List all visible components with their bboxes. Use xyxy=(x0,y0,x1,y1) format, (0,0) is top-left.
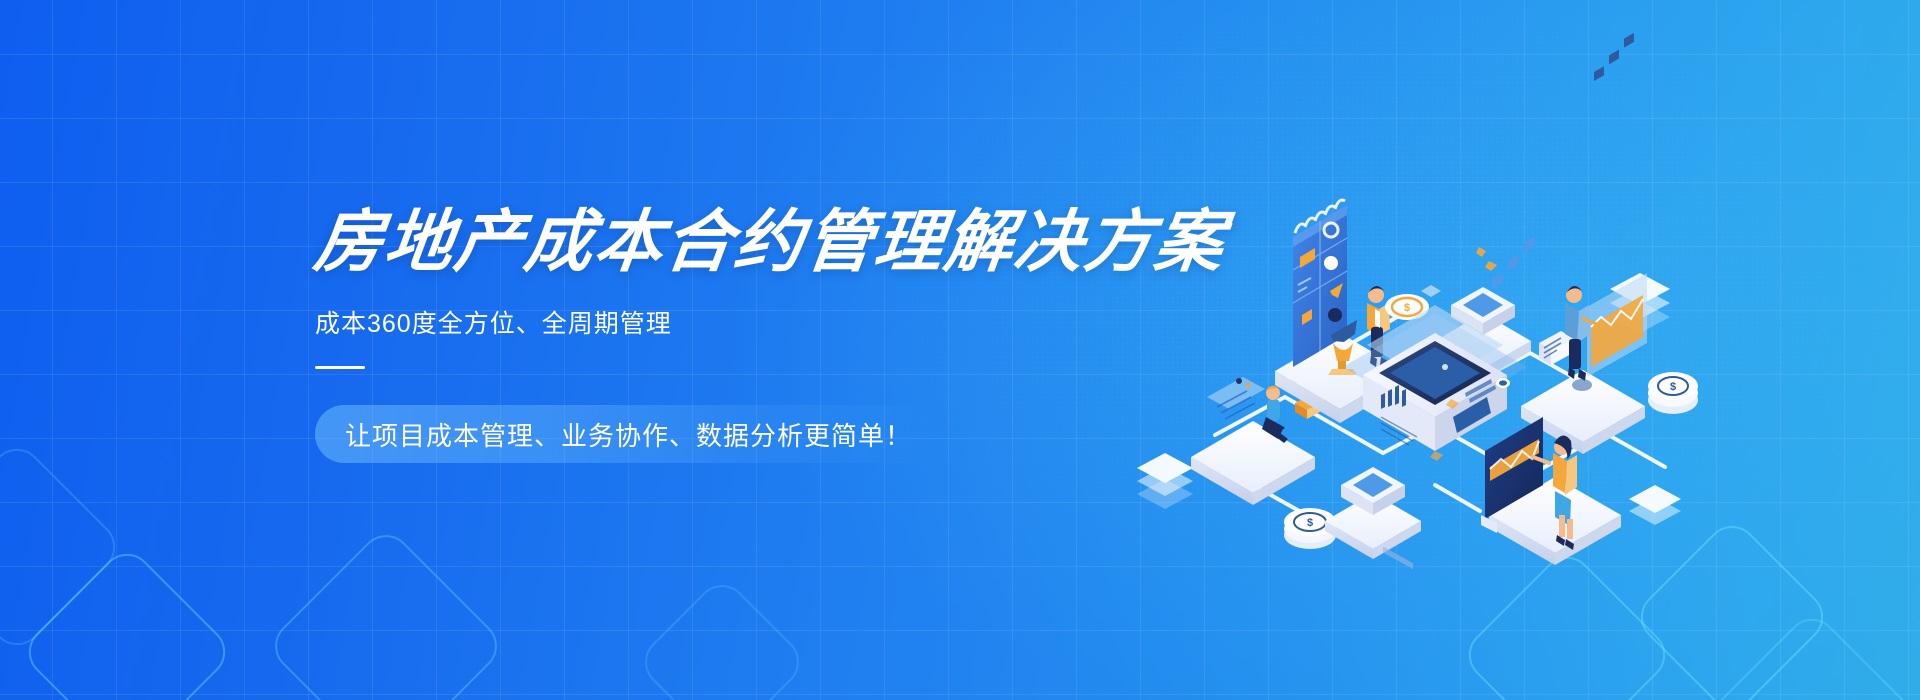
hero-subtitle: 成本360度全方位、全周期管理 xyxy=(315,304,1215,340)
svg-text:$: $ xyxy=(1307,517,1313,529)
isometric-network-illustration: $ $ $ xyxy=(1135,185,1705,555)
hero-content: 房地产成本合约管理解决方案 成本360度全方位、全周期管理 让项目成本管理、业务… xyxy=(315,208,1215,463)
document-icon xyxy=(1539,331,1573,365)
pedestal-device xyxy=(1325,467,1421,559)
title-divider xyxy=(315,366,365,369)
hero-banner: 房地产成本合约管理解决方案 成本360度全方位、全周期管理 让项目成本管理、业务… xyxy=(0,0,1920,700)
svg-text:$: $ xyxy=(1670,381,1676,393)
svg-text:$: $ xyxy=(1404,302,1410,314)
hero-tagline-pill: 让项目成本管理、业务协作、数据分析更简单！ xyxy=(315,405,938,463)
coin-stack: $ xyxy=(1648,372,1698,414)
hero-title: 房地产成本合约管理解决方案 xyxy=(311,208,1219,276)
